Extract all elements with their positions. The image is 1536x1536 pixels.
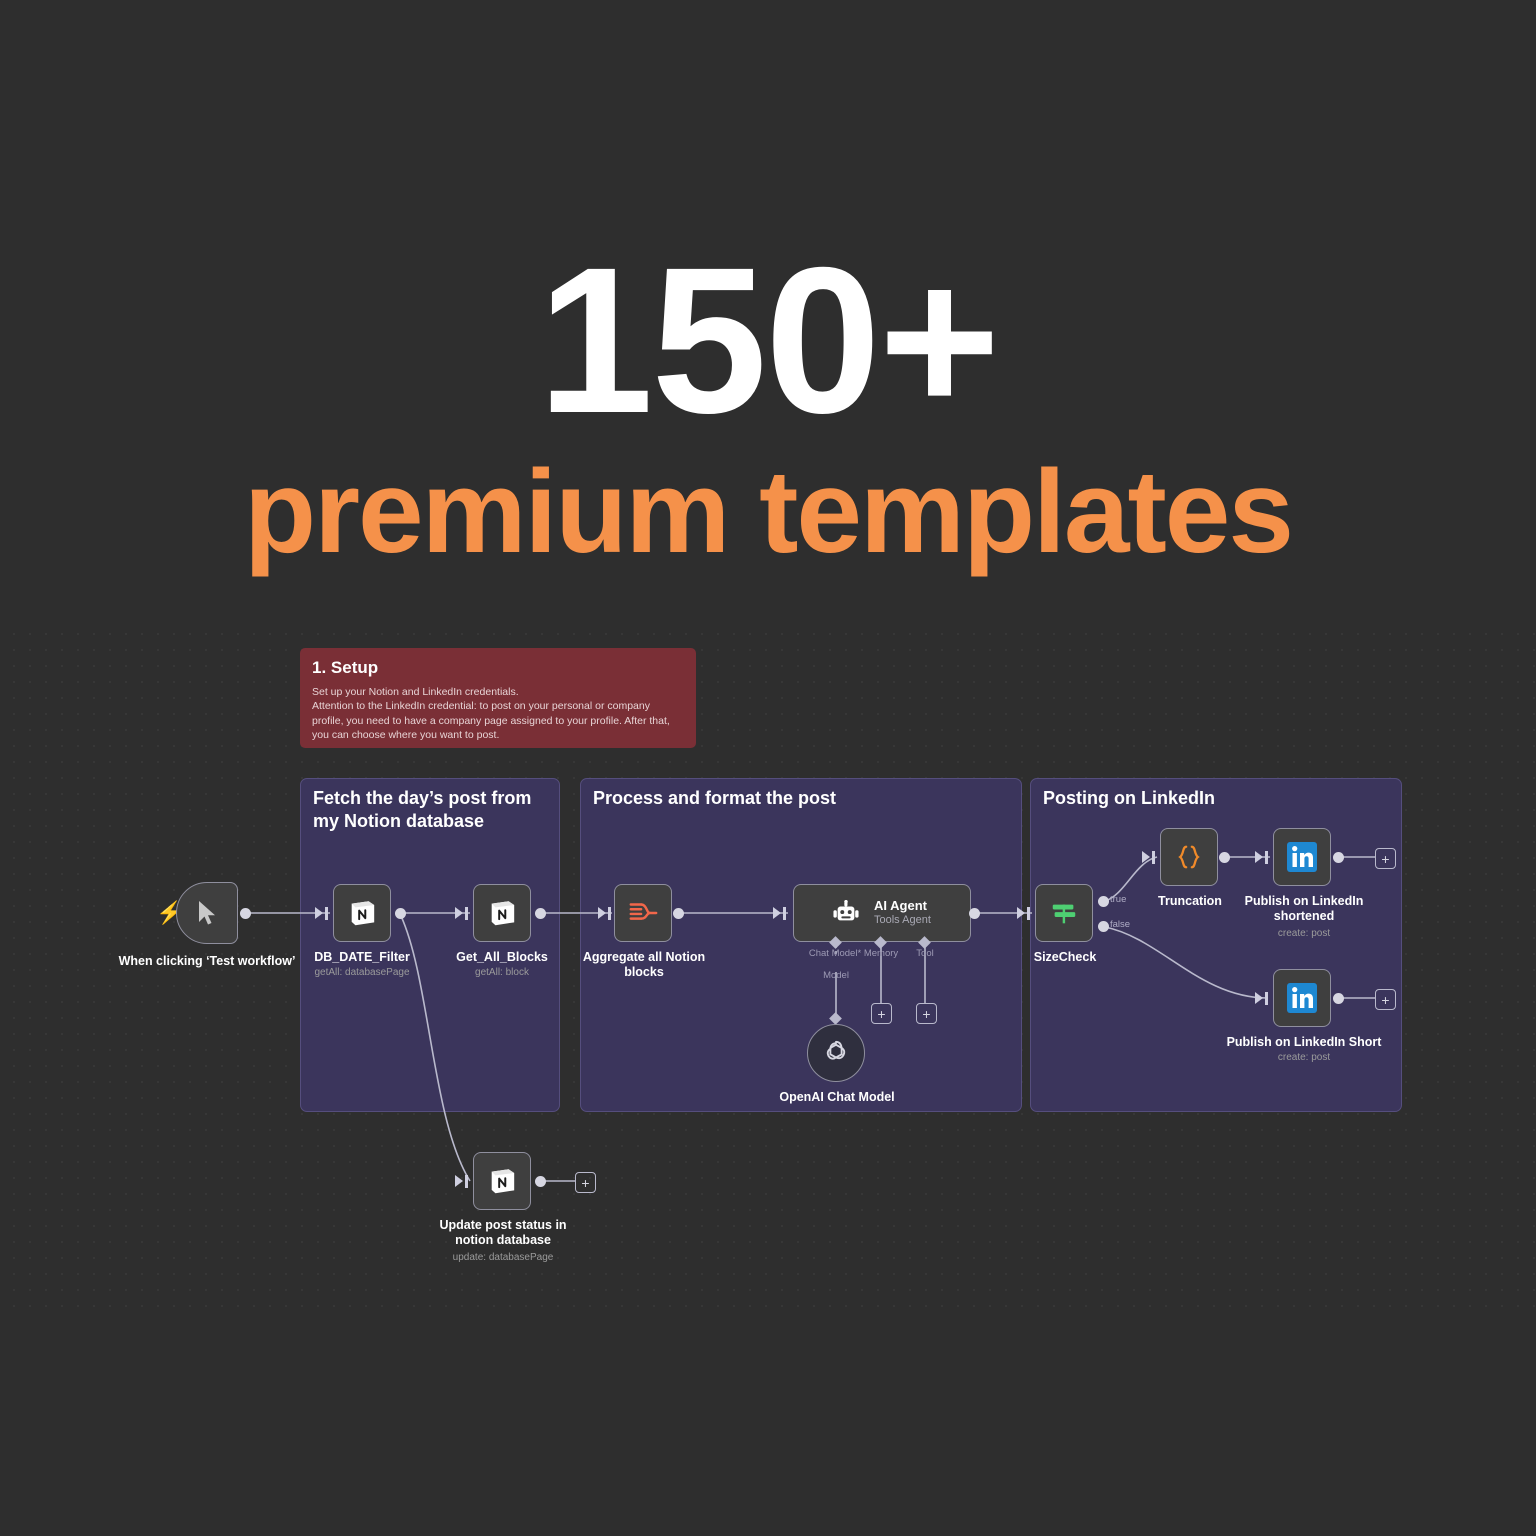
publish-shortened-input-arrow [1255, 851, 1263, 863]
ai-agent-input-arrow [773, 907, 781, 919]
if-signpost-icon [1049, 898, 1079, 928]
aggregate-output-port[interactable] [673, 908, 684, 919]
size-check-true-port[interactable] [1098, 896, 1109, 907]
sticky-note-body: Set up your Notion and LinkedIn credenti… [312, 685, 684, 742]
publish-short-output-port[interactable] [1333, 993, 1344, 1004]
update-post-status-input-bar [465, 1175, 468, 1188]
aggregate-icon [627, 898, 659, 928]
ai-agent-input-bar [783, 907, 786, 920]
sticky-note-setup[interactable]: 1. Setup Set up your Notion and LinkedIn… [300, 648, 696, 748]
group-process-panel[interactable]: Process and format the post [580, 778, 1022, 1112]
node-label-aggregate: Aggregate all Notion blocks [573, 950, 715, 980]
code-braces-icon [1175, 842, 1203, 872]
node-sub-publish-short: create: post [1218, 1052, 1390, 1064]
truncation-input-bar [1152, 851, 1155, 864]
node-sub-get-all-blocks: getAll: block [432, 967, 572, 979]
node-label-update-post-status: Update post status in notion database [428, 1218, 578, 1248]
node-publish-on-linkedin-shortened[interactable] [1273, 828, 1331, 886]
linkedin-icon [1285, 981, 1319, 1015]
port-label-model: Model [808, 970, 864, 981]
size-check-input-arrow [1017, 907, 1025, 919]
openai-icon [821, 1038, 851, 1068]
ai-agent-output-port[interactable] [969, 908, 980, 919]
notion-icon [487, 898, 517, 928]
truncation-input-arrow [1142, 851, 1150, 863]
workflow-canvas[interactable]: 1. Setup Set up your Notion and LinkedIn… [0, 620, 1536, 1320]
node-label-openai-chat-model: OpenAI Chat Model [757, 1090, 917, 1105]
trigger-output-port[interactable] [240, 908, 251, 919]
headline-block: 150+ premium templates [0, 252, 1536, 571]
update-post-status-output-port[interactable] [535, 1176, 546, 1187]
node-label-get-all-blocks: Get_All_Blocks [432, 950, 572, 965]
headline-count: 150+ [0, 252, 1536, 431]
node-when-clicking-test-workflow[interactable] [176, 882, 238, 944]
group-post-title: Posting on LinkedIn [1043, 787, 1393, 810]
node-label-ai-agent: AI Agent [874, 899, 931, 914]
group-fetch-title: Fetch the day’s post from my Notion data… [313, 787, 553, 832]
get-all-blocks-output-port[interactable] [535, 908, 546, 919]
add-node-button-after-publish-shortened[interactable]: + [1375, 848, 1396, 869]
node-label-trigger: When clicking ‘Test workflow’ [117, 954, 297, 969]
node-sub-update-post-status: update: databasePage [428, 1252, 578, 1264]
add-tool-button[interactable]: + [916, 1003, 937, 1024]
sticky-note-title: 1. Setup [312, 658, 684, 678]
node-label-db-date-filter: DB_DATE_Filter [292, 950, 432, 965]
group-fetch-panel[interactable]: Fetch the day’s post from my Notion data… [300, 778, 560, 1112]
aggregate-input-arrow [598, 907, 606, 919]
node-label-publish-short: Publish on LinkedIn Short [1218, 1035, 1390, 1050]
node-truncation[interactable] [1160, 828, 1218, 886]
size-check-false-port[interactable] [1098, 921, 1109, 932]
node-sub-db-date-filter: getAll: databasePage [292, 967, 432, 979]
group-process-title: Process and format the post [593, 787, 1013, 810]
publish-short-input-bar [1265, 992, 1268, 1005]
port-label-tool: Tool [900, 948, 950, 959]
linkedin-icon [1285, 840, 1319, 874]
node-openai-chat-model[interactable] [807, 1024, 865, 1082]
branch-label-true: true [1110, 894, 1126, 905]
node-get-all-blocks[interactable] [473, 884, 531, 942]
node-db-date-filter[interactable] [333, 884, 391, 942]
add-memory-button[interactable]: + [871, 1003, 892, 1024]
node-update-post-status[interactable] [473, 1152, 531, 1210]
publish-shortened-input-bar [1265, 851, 1268, 864]
update-post-status-input-arrow [455, 1175, 463, 1187]
node-publish-on-linkedin-short[interactable] [1273, 969, 1331, 1027]
node-aggregate-all-notion-blocks[interactable] [614, 884, 672, 942]
publish-short-input-arrow [1255, 992, 1263, 1004]
node-size-check[interactable] [1035, 884, 1093, 942]
node-sub-publish-shortened: create: post [1228, 928, 1380, 940]
robot-icon [832, 900, 860, 926]
db-date-filter-input-arrow [315, 907, 323, 919]
branch-label-false: false [1110, 919, 1130, 930]
cursor-icon [196, 900, 218, 926]
aggregate-input-bar [608, 907, 611, 920]
node-ai-agent[interactable]: AI Agent Tools Agent [793, 884, 971, 942]
get-all-blocks-input-bar [465, 907, 468, 920]
db-date-filter-input-bar [325, 907, 328, 920]
db-date-filter-output-port[interactable] [395, 908, 406, 919]
notion-icon [347, 898, 377, 928]
node-label-publish-shortened: Publish on LinkedIn shortened [1228, 894, 1380, 924]
add-node-button-after-update-post-status[interactable]: + [575, 1172, 596, 1193]
truncation-output-port[interactable] [1219, 852, 1230, 863]
publish-shortened-output-port[interactable] [1333, 852, 1344, 863]
node-sub-ai-agent: Tools Agent [874, 914, 931, 927]
node-label-size-check: SizeCheck [1000, 950, 1130, 965]
size-check-input-bar [1027, 907, 1030, 920]
add-node-button-after-publish-short[interactable]: + [1375, 989, 1396, 1010]
get-all-blocks-input-arrow [455, 907, 463, 919]
headline-subtitle: premium templates [0, 453, 1536, 571]
notion-icon [487, 1166, 517, 1196]
